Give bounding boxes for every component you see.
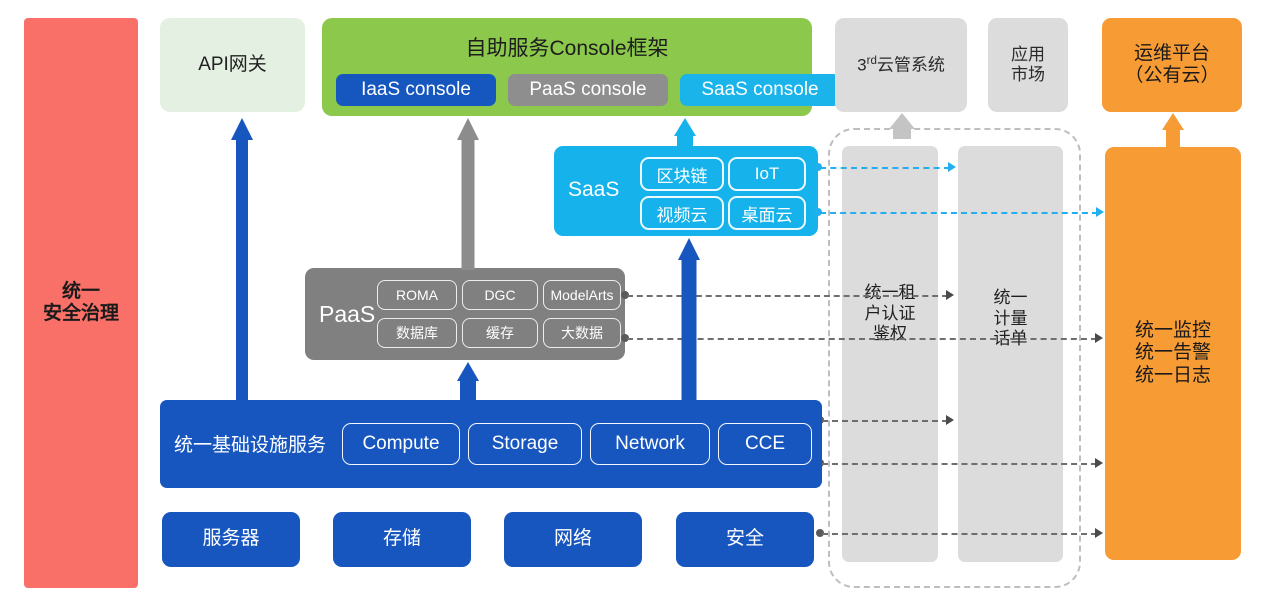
ops-platform-line2: （公有云） <box>1124 65 1219 87</box>
arrow-infra-to-saas <box>672 238 706 400</box>
api-gateway-box[interactable]: API网关 <box>160 18 305 112</box>
tenant-auth-label: 统一租 户认证 鉴权 <box>842 283 938 345</box>
infra-chip-storage[interactable]: Storage <box>468 423 582 465</box>
saas-to-tenant-auth-line <box>820 167 950 169</box>
arrow-shared-to-third-party <box>885 113 919 139</box>
saas-to-ops-arrowhead <box>1096 207 1104 217</box>
infra-chip-cce[interactable]: CCE <box>718 423 812 465</box>
ops-platform-line1: 运维平台 <box>1124 43 1219 65</box>
paas-to-ops-arrowhead <box>1095 333 1103 343</box>
resource-tile-storage[interactable]: 存储 <box>333 512 471 567</box>
paas-console-pill[interactable]: PaaS console <box>508 74 668 106</box>
governance-panel: 统一 安全治理 <box>24 18 138 588</box>
infra-service-bar: 统一基础设施服务 Compute Storage Network CCE <box>160 400 822 488</box>
architecture-diagram: 统一 安全治理 API网关 自助服务Console框架 IaaS console… <box>0 0 1265 605</box>
arrow-ops-panel-to-header <box>1156 113 1190 147</box>
ops-platform-header-box[interactable]: 运维平台 （公有云） <box>1102 18 1242 112</box>
infra-chip-compute[interactable]: Compute <box>342 423 460 465</box>
ops-monitor-label: 统一监控 <box>1135 320 1211 342</box>
saas-chip-desktop-cloud[interactable]: 桌面云 <box>728 196 806 230</box>
arrow-saas-to-console <box>669 118 701 148</box>
ops-alarm-label: 统一告警 <box>1135 342 1211 364</box>
tenant-auth-pillar <box>842 146 938 562</box>
app-market-line1: 应用 <box>1011 45 1045 65</box>
resource-tile-security[interactable]: 安全 <box>676 512 814 567</box>
paas-label: PaaS <box>319 301 375 328</box>
saas-box: SaaS 区块链 IoT 视频云 桌面云 <box>554 146 818 236</box>
infra-to-tenant-auth-line <box>822 420 948 422</box>
resource-to-ops-line <box>822 533 1097 535</box>
ops-platform-panel: 统一监控 统一告警 统一日志 <box>1105 147 1241 560</box>
saas-to-tenant-auth-arrowhead <box>948 162 956 172</box>
paas-console-label: PaaS console <box>529 79 646 101</box>
resource-tile-network[interactable]: 网络 <box>504 512 642 567</box>
paas-to-tenant-auth-arrowhead <box>946 290 954 300</box>
third-party-cloud-mgmt-label: 3rd云管系统 <box>857 55 945 76</box>
metering-billing-label: 统一 计量 话单 <box>958 288 1063 350</box>
paas-chip-dgc[interactable]: DGC <box>462 280 538 310</box>
saas-console-pill[interactable]: SaaS console <box>680 74 840 106</box>
iaas-console-label: IaaS console <box>361 79 471 101</box>
resource-to-ops-arrowhead <box>1095 528 1103 538</box>
arrow-infra-to-paas <box>451 362 485 400</box>
governance-label-line1: 统一 <box>43 281 119 303</box>
infra-service-label: 统一基础设施服务 <box>174 430 326 457</box>
ops-log-label: 统一日志 <box>1135 365 1211 387</box>
paas-chip-cache[interactable]: 缓存 <box>462 318 538 348</box>
saas-console-label: SaaS console <box>701 79 818 101</box>
paas-chip-modelarts[interactable]: ModelArts <box>543 280 621 310</box>
resource-tile-server[interactable]: 服务器 <box>162 512 300 567</box>
third-party-cloud-mgmt-box[interactable]: 3rd云管系统 <box>835 18 967 112</box>
saas-chip-blockchain[interactable]: 区块链 <box>640 157 724 191</box>
paas-chip-roma[interactable]: ROMA <box>377 280 457 310</box>
paas-box: PaaS ROMA DGC ModelArts 数据库 缓存 大数据 <box>305 268 625 360</box>
app-market-line2: 市场 <box>1011 65 1045 85</box>
infra-to-ops-line <box>822 463 1097 465</box>
saas-chip-iot[interactable]: IoT <box>728 157 806 191</box>
infra-to-tenant-auth-arrowhead <box>946 415 954 425</box>
arrow-infra-to-api-gateway <box>226 118 258 400</box>
saas-label: SaaS <box>568 178 619 202</box>
saas-chip-video-cloud[interactable]: 视频云 <box>640 196 724 230</box>
console-framework-box: 自助服务Console框架 IaaS console PaaS console … <box>322 18 812 116</box>
metering-billing-pillar <box>958 146 1063 562</box>
arrow-paas-to-console <box>452 118 484 270</box>
iaas-console-pill[interactable]: IaaS console <box>336 74 496 106</box>
app-market-box[interactable]: 应用 市场 <box>988 18 1068 112</box>
paas-chip-database[interactable]: 数据库 <box>377 318 457 348</box>
governance-label-line2: 安全治理 <box>43 303 119 325</box>
infra-to-ops-arrowhead <box>1095 458 1103 468</box>
saas-to-ops-line <box>820 212 1098 214</box>
infra-chip-network[interactable]: Network <box>590 423 710 465</box>
api-gateway-label: API网关 <box>198 54 267 76</box>
console-framework-title: 自助服务Console框架 <box>322 32 812 62</box>
paas-chip-bigdata[interactable]: 大数据 <box>543 318 621 348</box>
